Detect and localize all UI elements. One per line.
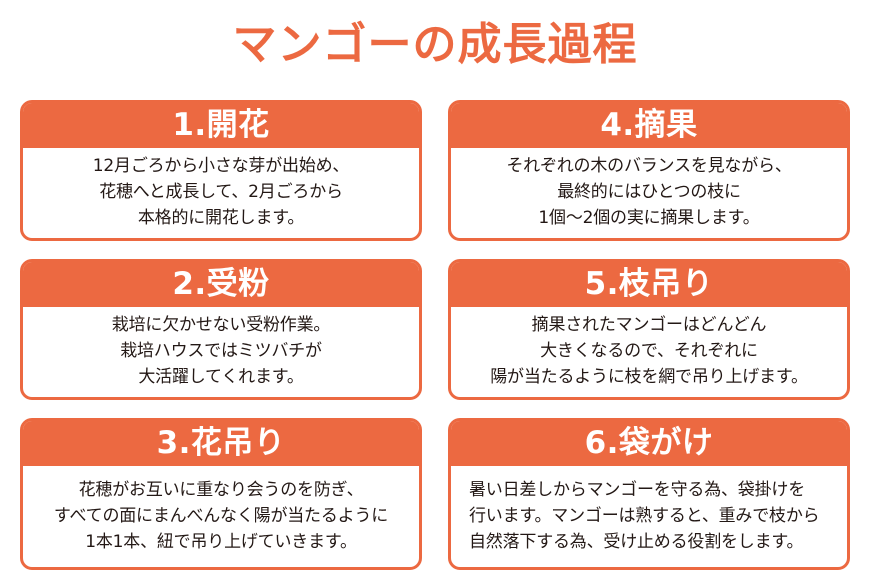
card-body-line: 摘果されたマンゴーはどんどん [532, 312, 767, 338]
card-body-3: 花穂がお互いに重なり会うのを防ぎ、 すべての面にまんべんなく陽が当たるように 1… [23, 466, 419, 567]
card-body-line: 花穂へと成長して、2月ごろから [99, 179, 343, 205]
process-card-5: 5.枝吊り 摘果されたマンゴーはどんどん 大きくなるので、それぞれに 陽が当たる… [448, 259, 850, 400]
card-body-5: 摘果されたマンゴーはどんどん 大きくなるので、それぞれに 陽が当たるように枝を網… [451, 307, 847, 397]
card-body-line: 本格的に開花します。 [138, 205, 304, 231]
card-body-4: それぞれの木のバランスを見ながら、 最終的にはひとつの枝に 1個〜2個の実に摘果… [451, 148, 847, 238]
card-body-line: それぞれの木のバランスを見ながら、 [506, 153, 791, 179]
process-card-4: 4.摘果 それぞれの木のバランスを見ながら、 最終的にはひとつの枝に 1個〜2個… [448, 100, 850, 241]
card-body-line: 陽が当たるように枝を網で吊り上げます。 [490, 364, 808, 390]
card-header-4: 4.摘果 [451, 103, 847, 148]
card-body-line: すべての面にまんべんなく陽が当たるように [54, 503, 388, 529]
card-body-line: 栽培ハウスではミツバチが [120, 338, 322, 364]
card-body-line: 1個〜2個の実に摘果します。 [538, 205, 759, 231]
card-body-line: 大活躍してくれます。 [138, 364, 303, 390]
process-card-3: 3.花吊り 花穂がお互いに重なり会うのを防ぎ、 すべての面にまんべんなく陽が当た… [20, 418, 422, 570]
process-card-6: 6.袋がけ 暑い日差しからマンゴーを守る為、袋掛けを 行います。マンゴーは熟する… [448, 418, 850, 570]
card-body-6: 暑い日差しからマンゴーを守る為、袋掛けを 行います。マンゴーは熟すると、重みで枝… [451, 466, 847, 567]
card-body-line: 行います。マンゴーは熟すると、重みで枝から [469, 503, 819, 529]
infographic-page: マンゴーの成長過程 1.開花 12月ごろから小さな芽が出始め、 花穂へと成長して… [0, 0, 870, 580]
card-body-line: 大きくなるので、それぞれに [540, 338, 758, 364]
card-body-line: 暑い日差しからマンゴーを守る為、袋掛けを [469, 477, 805, 503]
card-body-line: 最終的にはひとつの枝に [557, 179, 741, 205]
card-header-3: 3.花吊り [23, 421, 419, 466]
card-body-2: 栽培に欠かせない受粉作業。 栽培ハウスではミツバチが 大活躍してくれます。 [23, 307, 419, 397]
process-card-1: 1.開花 12月ごろから小さな芽が出始め、 花穂へと成長して、2月ごろから 本格… [20, 100, 422, 241]
card-body-line: 自然落下する為、受け止める役割をします。 [469, 529, 803, 555]
card-body-line: 栽培に欠かせない受粉作業。 [112, 312, 330, 338]
card-header-6: 6.袋がけ [451, 421, 847, 466]
card-body-1: 12月ごろから小さな芽が出始め、 花穂へと成長して、2月ごろから 本格的に開花し… [23, 148, 419, 238]
card-header-2: 2.受粉 [23, 262, 419, 307]
card-body-line: 花穂がお互いに重なり会うのを防ぎ、 [79, 477, 364, 503]
page-title: マンゴーの成長過程 [0, 16, 870, 74]
process-card-grid: 1.開花 12月ごろから小さな芽が出始め、 花穂へと成長して、2月ごろから 本格… [20, 100, 850, 562]
process-card-2: 2.受粉 栽培に欠かせない受粉作業。 栽培ハウスではミツバチが 大活躍してくれま… [20, 259, 422, 400]
card-body-line: 12月ごろから小さな芽が出始め、 [93, 153, 349, 179]
card-body-line: 1本1本、紐で吊り上げていきます。 [85, 529, 357, 555]
card-header-1: 1.開花 [23, 103, 419, 148]
card-header-5: 5.枝吊り [451, 262, 847, 307]
